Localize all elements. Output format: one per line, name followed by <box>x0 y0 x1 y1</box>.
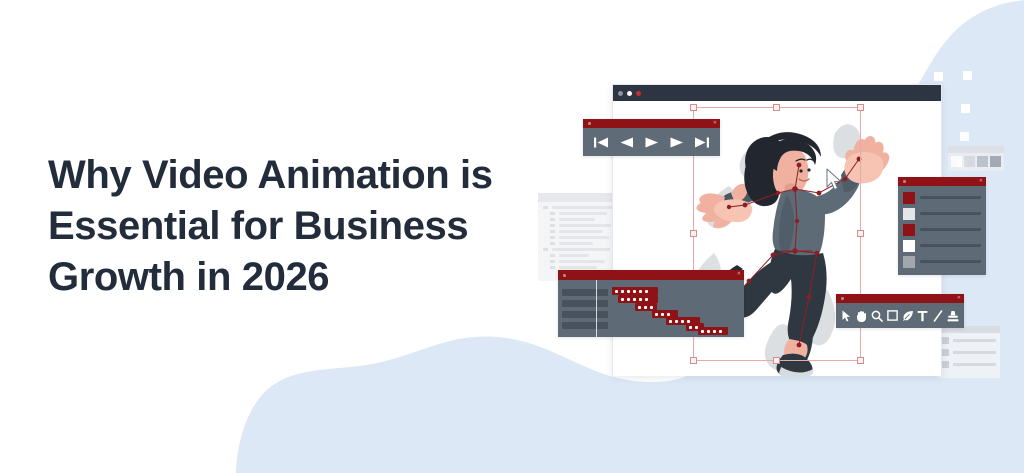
keyframe-marker[interactable] <box>669 320 672 323</box>
ghost-marker <box>550 230 555 233</box>
layer-row[interactable] <box>903 191 981 204</box>
rewind-button[interactable] <box>616 132 636 152</box>
background-settings-panel <box>938 326 1000 378</box>
ghost-line <box>953 351 996 354</box>
decorative-square <box>963 71 972 80</box>
keyframe-marker[interactable] <box>701 330 704 333</box>
layer-color-swatch[interactable] <box>903 208 915 220</box>
play-button[interactable] <box>641 132 661 152</box>
ghost-marker <box>543 248 548 251</box>
layer-name-placeholder <box>920 228 981 231</box>
timeline-track[interactable] <box>562 300 608 307</box>
timeline-track[interactable] <box>562 311 608 318</box>
ghost-marker <box>543 206 548 209</box>
ghost-swatch <box>990 156 1001 167</box>
close-dot[interactable] <box>636 91 641 96</box>
ghost-marker <box>550 242 555 245</box>
keyframe-marker[interactable] <box>627 298 630 301</box>
maximize-dot[interactable] <box>627 91 632 96</box>
keyframe-marker[interactable] <box>681 320 684 323</box>
timeline-track[interactable] <box>562 289 608 296</box>
text-tool[interactable] <box>916 308 929 323</box>
ghost-line <box>552 248 610 251</box>
timeline-track[interactable] <box>562 322 608 329</box>
layer-row[interactable] <box>903 223 981 236</box>
keyframe-marker[interactable] <box>661 313 664 316</box>
ghost-line <box>559 254 589 257</box>
ghost-swatch <box>942 337 949 344</box>
layers-rows[interactable] <box>898 186 986 275</box>
hand-tool[interactable] <box>855 308 868 323</box>
ghost-line <box>559 266 597 269</box>
keyframe-marker[interactable] <box>650 306 653 309</box>
tools-titlebar[interactable]: ✕ <box>836 294 964 303</box>
ghost-marker <box>550 236 555 239</box>
layer-row[interactable] <box>903 239 981 252</box>
ghost-marker <box>550 260 555 263</box>
timeline-clip[interactable] <box>698 327 728 335</box>
ghost-line <box>559 260 605 263</box>
headline-line-1: Why Video Animation is <box>48 150 548 201</box>
keyframe-marker[interactable] <box>689 326 692 329</box>
ghost-swatch <box>977 156 988 167</box>
player-titlebar[interactable]: ✕ <box>583 119 720 128</box>
layer-color-swatch[interactable] <box>903 240 915 252</box>
close-icon[interactable]: ✕ <box>713 119 717 128</box>
ghost-line <box>552 206 614 209</box>
timeline-clip[interactable] <box>612 287 658 295</box>
timeline-playhead[interactable] <box>596 280 597 337</box>
keyframe-marker[interactable] <box>675 320 678 323</box>
keyframe-marker[interactable] <box>633 290 636 293</box>
player-button-row[interactable] <box>583 128 720 156</box>
layer-color-swatch[interactable] <box>903 192 915 204</box>
ghost-line <box>559 224 611 227</box>
layers-properties-panel[interactable]: ✕ <box>898 177 986 275</box>
ghost-line <box>953 339 996 342</box>
keyframe-marker[interactable] <box>633 298 636 301</box>
decorative-square <box>899 72 908 81</box>
close-icon[interactable]: ✕ <box>957 294 961 303</box>
minimize-dot[interactable] <box>618 91 623 96</box>
keyframe-marker[interactable] <box>639 290 642 293</box>
ghost-line <box>559 242 593 245</box>
timeline-body[interactable] <box>558 280 744 337</box>
decorative-square <box>961 104 970 113</box>
window-titlebar[interactable] <box>613 85 941 101</box>
ghost-marker <box>550 224 555 227</box>
ghost-panel-rows <box>938 333 1000 372</box>
keyframe-marker[interactable] <box>621 298 624 301</box>
ghost-marker <box>550 212 555 215</box>
ghost-line <box>559 230 603 233</box>
ghost-panel-titlebar <box>948 146 1004 153</box>
headline-line-2: Essential for Business <box>48 201 548 252</box>
ghost-line <box>559 236 609 239</box>
fast-forward-button[interactable] <box>667 132 687 152</box>
keyframe-marker[interactable] <box>713 330 716 333</box>
ghost-swatch <box>942 349 949 356</box>
layer-name-placeholder <box>920 212 981 215</box>
ghost-swatch <box>951 156 962 167</box>
ghost-marker <box>550 218 555 221</box>
ghost-row <box>942 349 996 356</box>
timeline-clip[interactable] <box>618 295 658 303</box>
timeline-titlebar-dot <box>563 274 566 277</box>
keyframe-marker[interactable] <box>667 313 670 316</box>
layer-name-placeholder <box>920 196 981 199</box>
keyframe-timeline[interactable]: ✕ <box>558 270 744 337</box>
keyframe-marker[interactable] <box>645 290 648 293</box>
selection-tool[interactable] <box>840 308 853 323</box>
keyframe-marker[interactable] <box>639 298 642 301</box>
skip-to-start-button[interactable] <box>591 132 611 152</box>
layer-row[interactable] <box>903 255 981 268</box>
keyframe-marker[interactable] <box>645 298 648 301</box>
layers-titlebar-dot <box>903 180 906 183</box>
keyframe-marker[interactable] <box>707 330 710 333</box>
zoom-tool[interactable] <box>871 308 884 323</box>
keyframe-marker[interactable] <box>621 290 624 293</box>
rectangle-tool[interactable] <box>886 308 899 323</box>
layer-name-placeholder <box>920 260 981 263</box>
tool-palette[interactable]: ✕ <box>836 294 964 328</box>
layer-row[interactable] <box>903 207 981 220</box>
keyframe-marker[interactable] <box>644 306 647 309</box>
keyframe-marker[interactable] <box>615 290 618 293</box>
tool-button-row[interactable] <box>836 303 964 328</box>
tools-titlebar-dot <box>841 297 844 300</box>
layer-color-swatch[interactable] <box>903 224 915 236</box>
close-icon[interactable]: ✕ <box>737 270 741 279</box>
layer-color-swatch[interactable] <box>903 256 915 268</box>
decorative-square <box>934 72 943 81</box>
stamp-tool[interactable] <box>947 308 960 323</box>
ghost-swatch <box>964 156 975 167</box>
close-icon[interactable]: ✕ <box>979 177 983 186</box>
mouse-pointer-icon <box>826 168 842 192</box>
layers-titlebar[interactable]: ✕ <box>898 177 986 186</box>
pen-tool[interactable] <box>901 308 914 323</box>
ghost-marker <box>550 266 555 269</box>
ghost-marker <box>550 254 555 257</box>
keyframe-marker[interactable] <box>627 290 630 293</box>
player-titlebar-dot <box>588 122 591 125</box>
background-swatch-panel <box>948 146 1004 171</box>
ghost-swatch-row <box>948 153 1004 170</box>
layer-name-placeholder <box>920 244 981 247</box>
page-root: Why Video Animation is Essential for Bus… <box>0 0 1024 473</box>
skip-to-end-button[interactable] <box>692 132 712 152</box>
keyframe-marker[interactable] <box>638 306 641 309</box>
headline-line-3: Growth in 2026 <box>48 252 548 303</box>
ghost-line <box>559 212 607 215</box>
ghost-row <box>942 361 996 368</box>
ghost-line <box>953 363 996 366</box>
decorative-square <box>960 132 969 141</box>
timeline-titlebar[interactable]: ✕ <box>558 270 744 280</box>
media-player-controls[interactable]: ✕ <box>583 119 720 156</box>
ghost-swatch <box>942 361 949 368</box>
line-tool[interactable] <box>932 308 945 323</box>
page-title: Why Video Animation is Essential for Bus… <box>48 150 548 303</box>
keyframe-marker[interactable] <box>655 313 658 316</box>
keyframe-marker[interactable] <box>719 330 722 333</box>
ghost-line <box>559 218 595 221</box>
ghost-row <box>942 337 996 344</box>
